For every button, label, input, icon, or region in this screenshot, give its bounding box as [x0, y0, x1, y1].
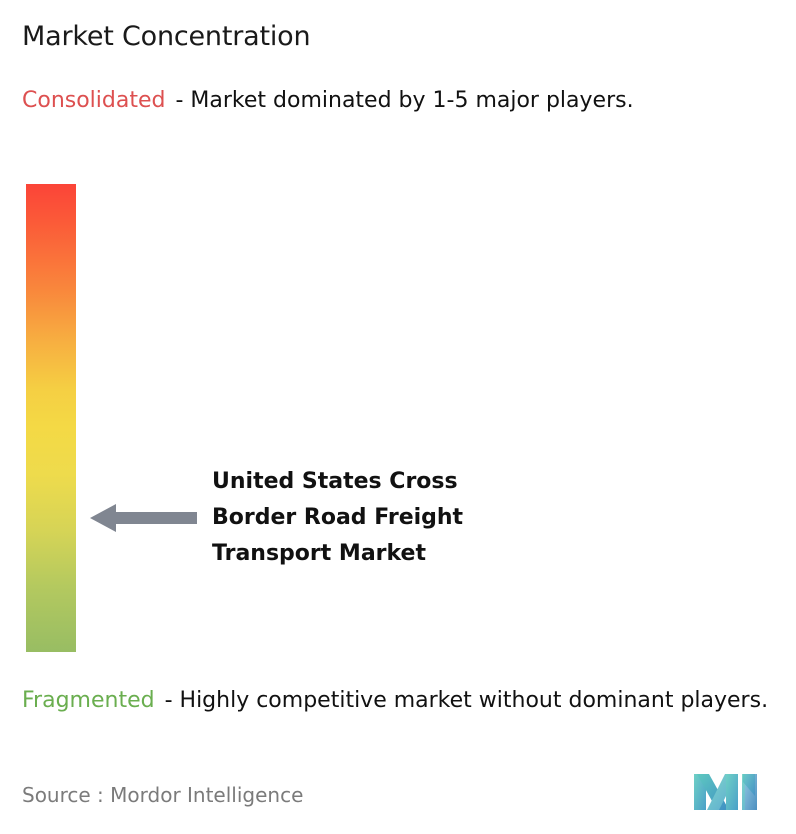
concentration-gradient-bar — [26, 184, 76, 652]
market-concentration-chart: Market Concentration Consolidated- Marke… — [0, 0, 796, 834]
market-pointer: United States Cross Border Road Freight … — [90, 460, 610, 576]
legend-fragmented-description: - Highly competitive market without domi… — [165, 688, 768, 713]
legend-consolidated-description: - Market dominated by 1-5 major players. — [175, 88, 633, 113]
market-label: United States Cross Border Road Freight … — [212, 464, 463, 572]
arrow-left-icon — [90, 503, 197, 533]
legend-consolidated: Consolidated- Market dominated by 1-5 ma… — [22, 85, 774, 116]
legend-fragmented-keyword: Fragmented — [22, 688, 155, 713]
source-attribution: Source : Mordor Intelligence — [22, 782, 303, 808]
legend-fragmented: Fragmented- Highly competitive market wi… — [22, 685, 790, 716]
mordor-intelligence-logo — [692, 770, 766, 816]
page-title: Market Concentration — [22, 20, 310, 54]
legend-consolidated-keyword: Consolidated — [22, 88, 165, 113]
